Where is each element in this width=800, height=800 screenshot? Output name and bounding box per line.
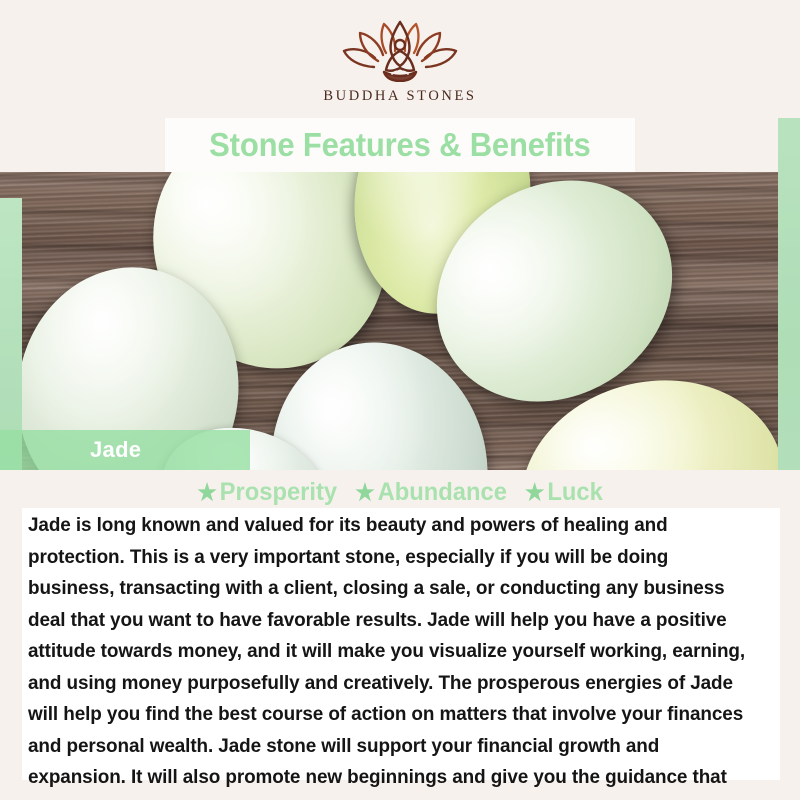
stone-name-banner: Jade xyxy=(0,430,250,470)
benefits-list: ★Prosperity ★Abundance ★Luck xyxy=(20,478,780,507)
lotus-meditation-icon xyxy=(340,20,460,82)
benefit-item-1: ★Abundance xyxy=(355,478,507,507)
star-icon: ★ xyxy=(355,479,375,505)
poster-canvas: BUDDHA STONES Stone Features & Benefits … xyxy=(0,0,800,800)
page-title: Stone Features & Benefits xyxy=(209,126,590,164)
benefit-label-1: Abundance xyxy=(378,478,507,506)
star-icon: ★ xyxy=(197,479,217,505)
section-title-band: Stone Features & Benefits xyxy=(165,118,635,172)
stone-name-label: Jade xyxy=(90,437,141,463)
jade-stones-photo xyxy=(0,172,800,470)
content-section: ★Prosperity ★Abundance ★Luck Jade is lon… xyxy=(0,470,800,800)
benefit-label-2: Luck xyxy=(547,478,602,506)
description-text: Jade is long known and valued for its be… xyxy=(28,510,750,800)
star-icon: ★ xyxy=(525,479,545,505)
brand-header: BUDDHA STONES xyxy=(0,0,800,118)
benefit-item-0: ★Prosperity xyxy=(197,478,337,507)
description-panel: Jade is long known and valued for its be… xyxy=(22,508,780,780)
benefit-item-2: ★Luck xyxy=(525,478,603,507)
benefit-label-0: Prosperity xyxy=(220,478,337,506)
brand-wordmark: BUDDHA STONES xyxy=(323,88,476,105)
